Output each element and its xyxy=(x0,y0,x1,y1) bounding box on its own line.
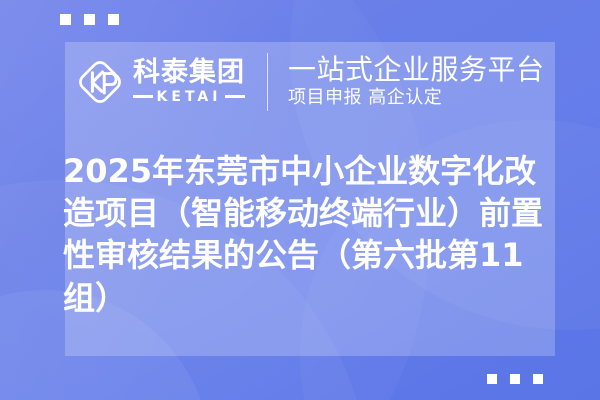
brand-wordmark: 科泰集团 KETAI xyxy=(133,59,245,104)
wordmark-rule-left xyxy=(133,95,153,98)
square-dot-icon xyxy=(487,374,497,384)
wordmark-rule-right xyxy=(225,95,245,98)
ketai-diamond-kp-logo-icon xyxy=(73,55,127,109)
brand-header: 科泰集团 KETAI 一站式企业服务平台 项目申报 高企认定 xyxy=(65,42,555,122)
announcement-title: 2025年东莞市中小企业数字化改造项目（智能移动终端行业）前置性审核结果的公告（… xyxy=(63,150,563,319)
brand-name-en-row: KETAI xyxy=(133,89,245,105)
decorative-dots-top-left xyxy=(60,14,119,25)
brand-logo[interactable]: 科泰集团 KETAI xyxy=(73,55,245,109)
square-dot-icon xyxy=(108,14,119,25)
promo-banner: 科泰集团 KETAI 一站式企业服务平台 项目申报 高企认定 2025年东莞市中… xyxy=(0,0,600,400)
brand-name-en: KETAI xyxy=(157,89,222,105)
brand-name-cn: 科泰集团 xyxy=(133,59,245,87)
square-dot-icon xyxy=(60,14,71,25)
square-dot-icon xyxy=(533,374,543,384)
header-divider xyxy=(267,53,268,111)
tagline-block: 一站式企业服务平台 项目申报 高企认定 xyxy=(288,54,545,110)
decorative-dots-bottom-right xyxy=(487,374,543,384)
tagline-main: 一站式企业服务平台 xyxy=(288,54,545,85)
square-dot-icon xyxy=(84,14,95,25)
square-dot-icon xyxy=(510,374,520,384)
tagline-sub: 项目申报 高企认定 xyxy=(288,86,545,109)
